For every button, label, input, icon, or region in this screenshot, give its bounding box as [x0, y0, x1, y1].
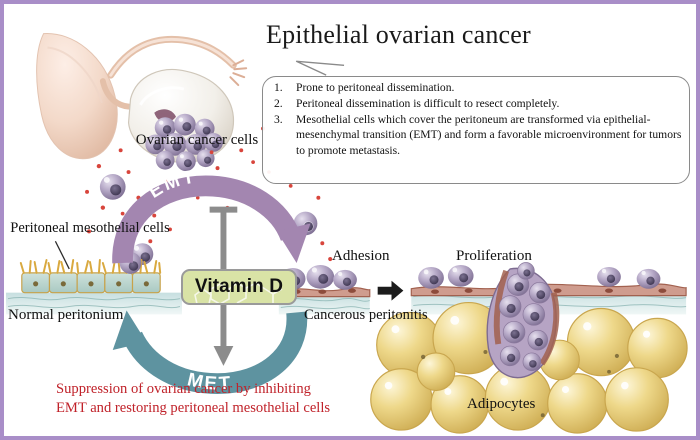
conclusion-text: Suppression of ovarian cancer by inhibit…	[56, 380, 416, 418]
conclusion-line-1: Suppression of ovarian cancer by inhibit…	[56, 380, 416, 399]
emt-label: EMT	[145, 165, 198, 201]
text-layer: Epithelial ovarian cancer 1. Prone to pe…	[4, 4, 696, 436]
figure-panel: Epithelial ovarian cancer 1. Prone to pe…	[0, 0, 700, 440]
conclusion-line-2: EMT and restoring peritoneal mesothelial…	[56, 399, 416, 418]
vitamin-d-label: Vitamin D	[181, 269, 297, 305]
cycle-label-layer: EMT MET	[4, 4, 696, 439]
